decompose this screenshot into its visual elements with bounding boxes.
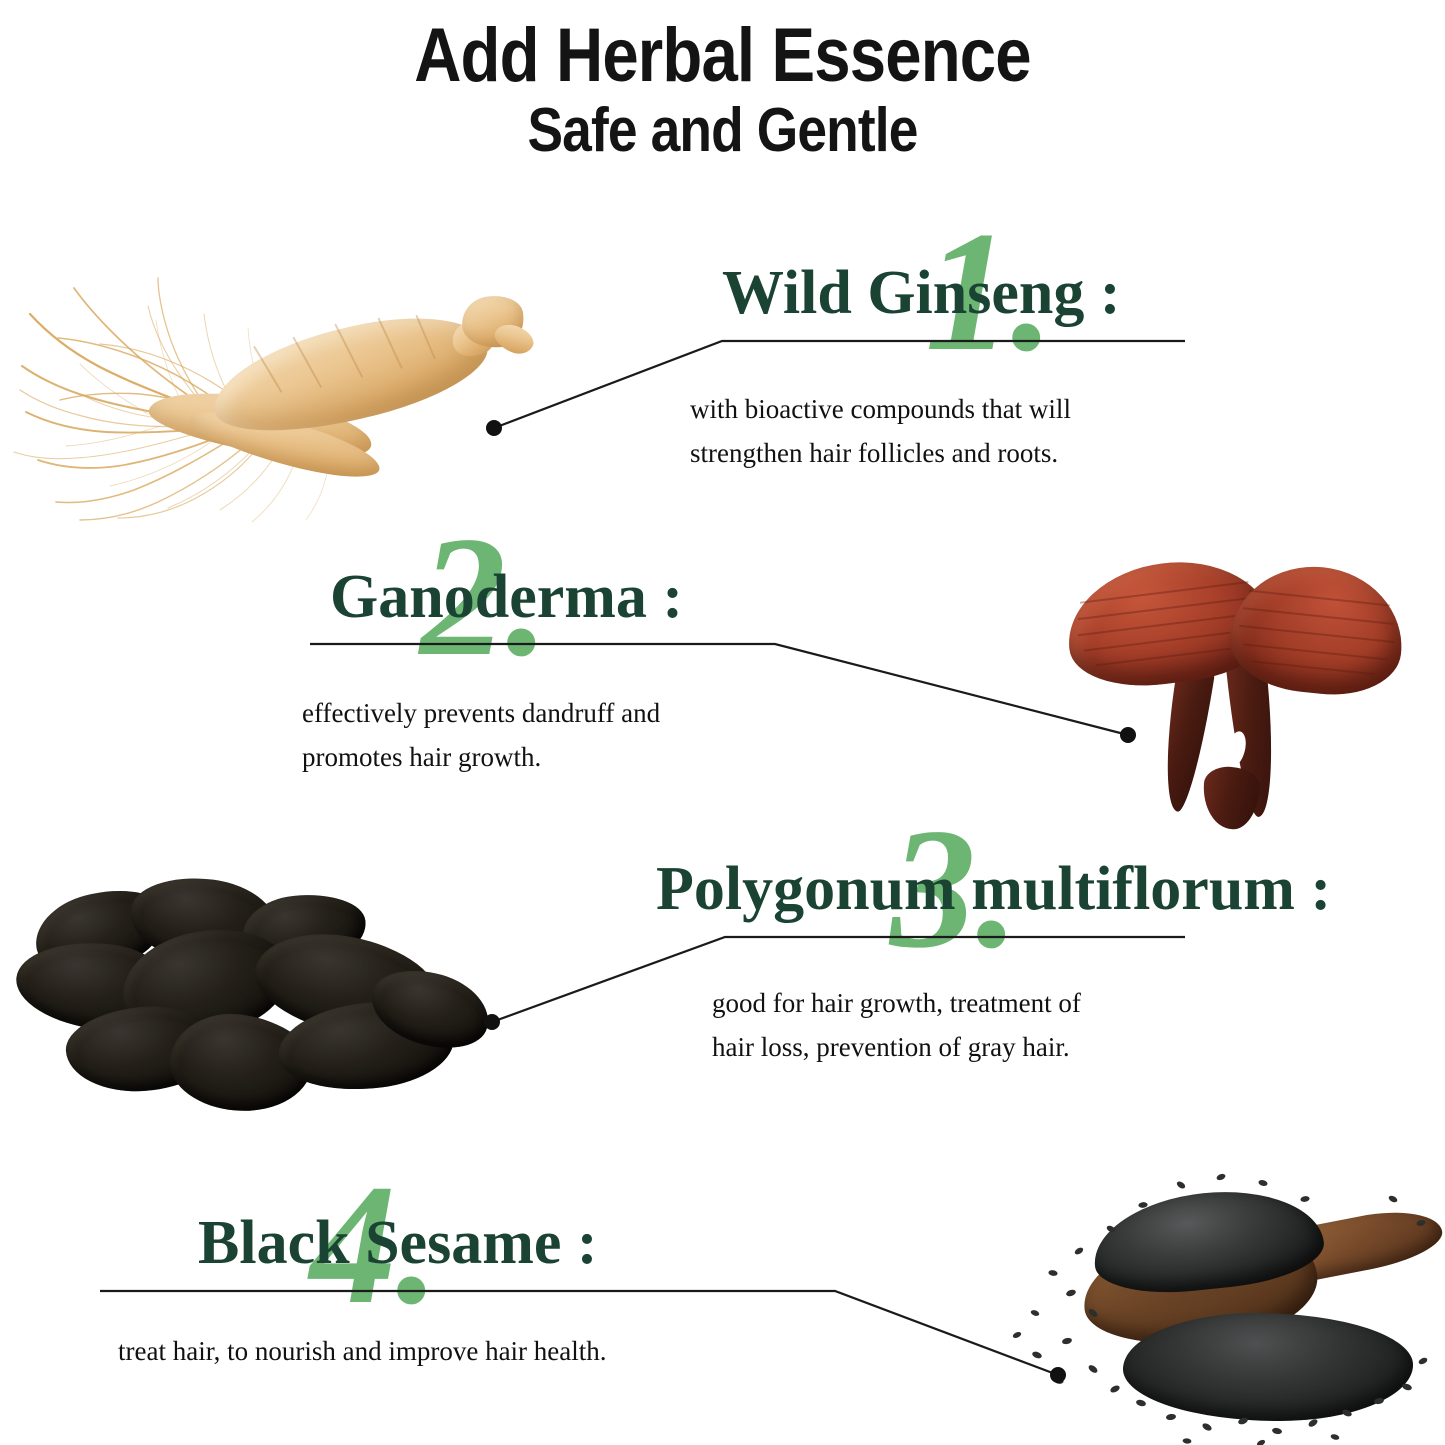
ganoderma-stem-base xyxy=(1201,765,1261,831)
wild-ginseng-root-photo xyxy=(0,270,540,535)
section-2-body-line-2: promotes hair growth. xyxy=(302,736,842,780)
section-3-body-line-2: hair loss, prevention of gray hair. xyxy=(712,1026,1272,1070)
page-title-line-2: Safe and Gentle xyxy=(101,100,1344,162)
section-3-heading: Polygonum multiflorum : xyxy=(656,858,1331,920)
section-2-heading: Ganoderma : xyxy=(330,566,683,628)
polygonum-multiflorum-slices-photo xyxy=(10,865,500,1135)
page-title-line-1: Add Herbal Essence xyxy=(101,18,1344,94)
section-3-body-line-1: good for hair growth, treatment of xyxy=(712,982,1272,1026)
section-1-body-line-2: strengthen hair follicles and roots. xyxy=(690,432,1230,476)
black-sesame-seeds-scoop-photo xyxy=(975,1165,1445,1445)
ganoderma-reishi-mushroom-photo xyxy=(1055,545,1405,830)
section-4-body-line-1: treat hair, to nourish and improve hair … xyxy=(118,1330,838,1374)
infographic-canvas: Add Herbal Essence Safe and Gentle xyxy=(0,0,1445,1445)
section-1-body-line-1: with bioactive compounds that will xyxy=(690,388,1230,432)
section-1-heading: Wild Ginseng : xyxy=(722,262,1121,324)
sesame-scattered-seeds-icon xyxy=(975,1165,1445,1445)
section-2-body-line-1: effectively prevents dandruff and xyxy=(302,692,842,736)
section-4-heading: Black Sesame : xyxy=(198,1212,598,1274)
